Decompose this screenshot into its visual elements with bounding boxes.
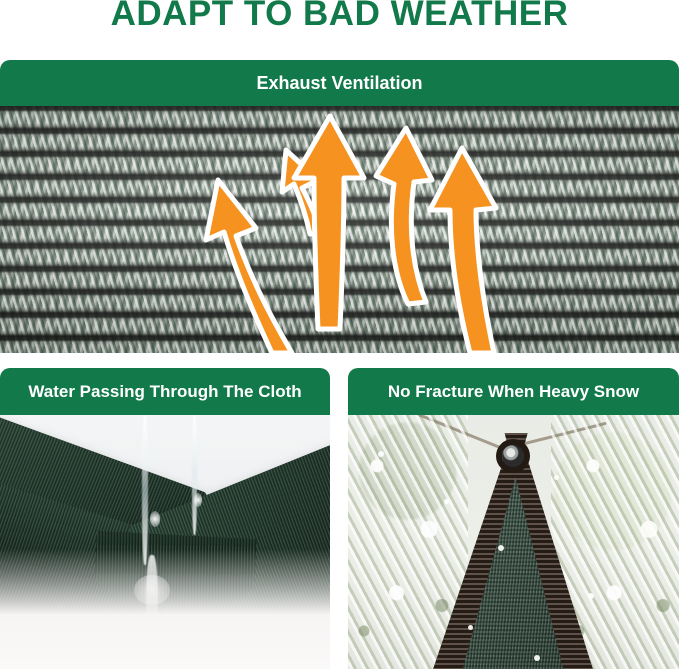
infographic-page: ADAPT TO BAD WEATHER Exhaust Ventilation	[0, 0, 679, 669]
panel-image-exhaust-ventilation	[0, 106, 679, 353]
snow-photo	[348, 415, 679, 669]
page-title: ADAPT TO BAD WEATHER	[0, 0, 679, 34]
snowflake	[588, 593, 594, 599]
snowflake	[498, 545, 504, 551]
airflow-arrow-4	[376, 128, 432, 304]
panel-exhaust-ventilation: Exhaust Ventilation	[0, 60, 679, 353]
airflow-arrow-3	[294, 116, 364, 329]
panel-header-heavy-snow: No Fracture When Heavy Snow	[348, 368, 679, 415]
airflow-arrow-1	[206, 180, 292, 353]
snowflake	[554, 475, 559, 480]
panel-image-water-passing	[0, 415, 330, 669]
snowflake	[468, 625, 473, 630]
panel-header-label: Exhaust Ventilation	[256, 73, 422, 94]
water-stream-2	[192, 415, 197, 535]
water-photo	[0, 415, 330, 669]
panel-header-exhaust-ventilation: Exhaust Ventilation	[0, 60, 679, 106]
snowflake	[378, 451, 384, 457]
photo-floor-gradient	[0, 549, 330, 669]
water-droplet-1	[150, 511, 160, 527]
panel-header-water-passing: Water Passing Through The Cloth	[0, 368, 330, 415]
water-droplet-2	[194, 493, 202, 507]
airflow-arrows	[0, 106, 679, 353]
shade-cloth-tarp	[408, 433, 618, 669]
panel-header-label: No Fracture When Heavy Snow	[388, 382, 639, 402]
water-stream-1	[142, 415, 148, 565]
airflow-arrow-5	[430, 148, 496, 353]
grommet-icon	[502, 445, 524, 467]
panel-heavy-snow: No Fracture When Heavy Snow	[348, 368, 679, 669]
panel-water-passing: Water Passing Through The Cloth	[0, 368, 330, 669]
panel-header-label: Water Passing Through The Cloth	[28, 382, 301, 402]
snowflake	[444, 499, 449, 504]
panel-image-heavy-snow	[348, 415, 679, 669]
snowflake	[534, 655, 540, 661]
